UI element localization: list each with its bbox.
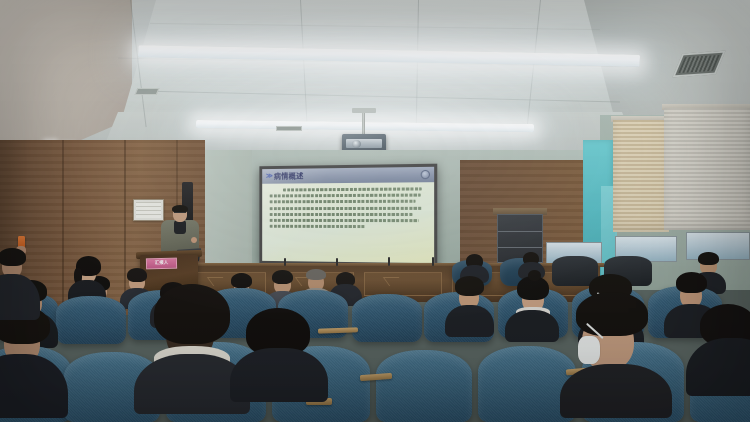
presenter-shirt [174, 220, 186, 234]
institution-seal-icon [421, 170, 430, 179]
audience-seating [0, 250, 750, 422]
slide-text-line [283, 187, 422, 191]
window-blind[interactable] [613, 120, 669, 232]
person-shoulders [445, 305, 494, 337]
person-hair [272, 270, 293, 284]
slide-title: 病情概述 [274, 172, 304, 180]
slide-text-line [270, 206, 422, 209]
seat[interactable] [56, 296, 126, 344]
person-shoulders [230, 348, 328, 402]
slide-text-line [270, 219, 419, 222]
person-hair [676, 272, 707, 293]
person-hair [0, 248, 26, 266]
face-mask [578, 336, 600, 364]
seat[interactable] [376, 350, 472, 422]
slide-title-bar: ≫ 病情概述 [262, 167, 434, 184]
person-hair-bun [528, 270, 541, 281]
person-hair [127, 268, 147, 282]
ceiling-diffuser [135, 88, 160, 95]
presenter-glasses [174, 212, 186, 215]
person-hair [576, 292, 648, 336]
person-shoulders [505, 310, 559, 342]
slide-text-line [270, 213, 412, 216]
lecture-hall-photo: ≫ 病情概述 [0, 0, 750, 422]
slide-text-line [270, 194, 421, 198]
ceiling-diffuser [276, 126, 302, 131]
window-blind[interactable] [664, 108, 750, 230]
presenter-hand [191, 237, 197, 243]
person-hair [306, 269, 326, 280]
person-hair [698, 252, 719, 265]
projection-screen-surface: ≫ 病情概述 [262, 167, 434, 263]
person-hair [231, 273, 252, 288]
person-shoulders [560, 364, 672, 418]
seat[interactable] [352, 294, 422, 342]
projector-lens [352, 140, 361, 148]
chevron-right-icon: ≫ [266, 173, 272, 180]
person-shoulders [686, 338, 750, 396]
slide-body-text [270, 187, 427, 228]
slide-text-line [270, 200, 416, 204]
person-hair [455, 276, 484, 296]
slide-text-line [270, 225, 366, 228]
projector-mount-pole [362, 113, 365, 136]
person-hair [154, 284, 230, 344]
